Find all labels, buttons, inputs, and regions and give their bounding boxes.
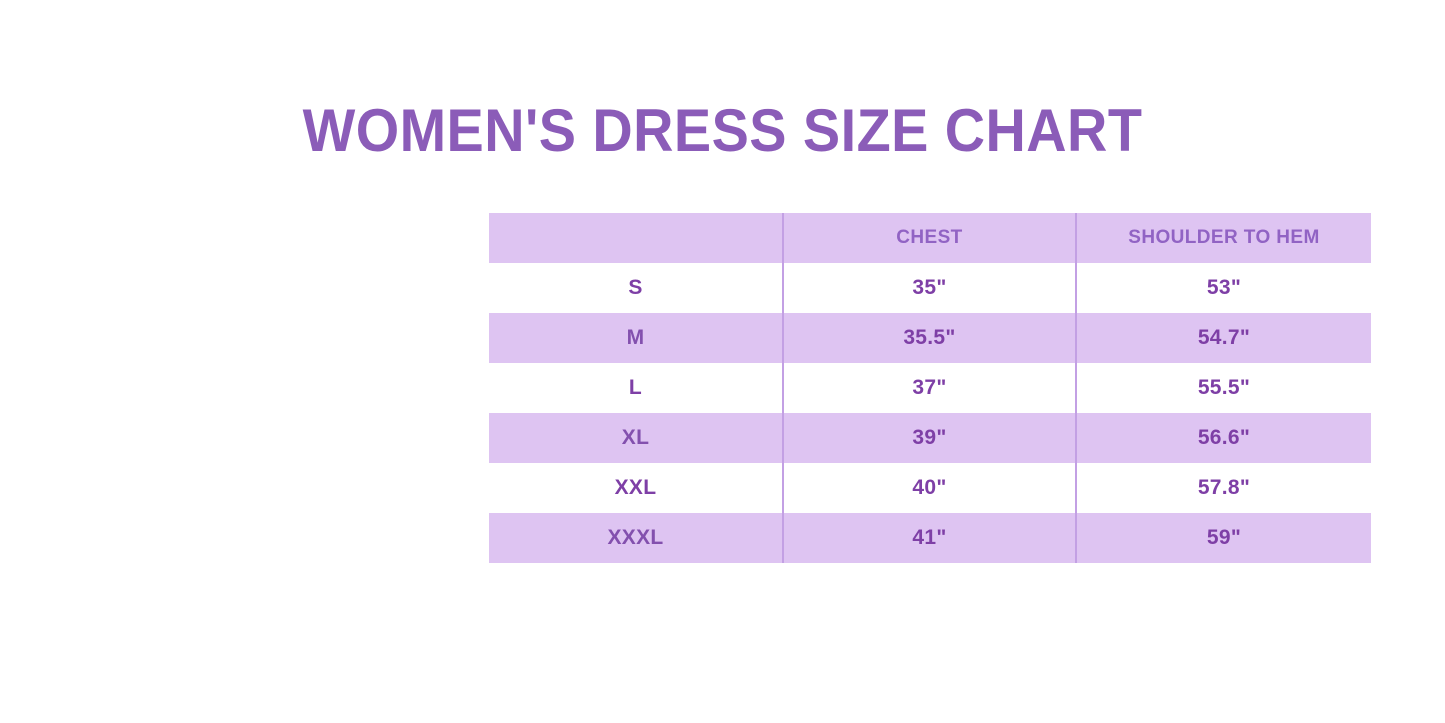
table-row: XL 39" 56.6" — [489, 413, 1371, 463]
table-header-row: CHEST SHOULDER TO HEM — [489, 213, 1371, 263]
cell-size: XXXL — [489, 513, 783, 563]
cell-shoulder-to-hem: 59" — [1076, 513, 1371, 563]
cell-shoulder-to-hem: 56.6" — [1076, 413, 1371, 463]
cell-size: L — [489, 363, 783, 413]
column-header-shoulder-to-hem: SHOULDER TO HEM — [1076, 213, 1371, 263]
cell-shoulder-to-hem: 53" — [1076, 263, 1371, 313]
size-chart-page: WOMEN'S DRESS SIZE CHART CHEST SHOULDER … — [0, 0, 1445, 723]
cell-shoulder-to-hem: 54.7" — [1076, 313, 1371, 363]
cell-chest: 40" — [783, 463, 1076, 513]
table-row: L 37" 55.5" — [489, 363, 1371, 413]
cell-chest: 37" — [783, 363, 1076, 413]
cell-size: XL — [489, 413, 783, 463]
page-title: WOMEN'S DRESS SIZE CHART — [51, 95, 1395, 167]
cell-size: M — [489, 313, 783, 363]
column-header-chest: CHEST — [783, 213, 1076, 263]
table-header: CHEST SHOULDER TO HEM — [489, 213, 1371, 263]
cell-size: S — [489, 263, 783, 313]
cell-chest: 41" — [783, 513, 1076, 563]
cell-shoulder-to-hem: 55.5" — [1076, 363, 1371, 413]
table-row: XXL 40" 57.8" — [489, 463, 1371, 513]
size-chart-table-container: CHEST SHOULDER TO HEM S 35" 53" M 35.5" … — [489, 213, 1371, 566]
table-body: S 35" 53" M 35.5" 54.7" L 37" 55.5" XL 3… — [489, 263, 1371, 563]
cell-chest: 35" — [783, 263, 1076, 313]
cell-chest: 35.5" — [783, 313, 1076, 363]
cell-size: XXL — [489, 463, 783, 513]
size-chart-table: CHEST SHOULDER TO HEM S 35" 53" M 35.5" … — [489, 213, 1371, 563]
table-row: M 35.5" 54.7" — [489, 313, 1371, 363]
cell-shoulder-to-hem: 57.8" — [1076, 463, 1371, 513]
cell-chest: 39" — [783, 413, 1076, 463]
table-row: S 35" 53" — [489, 263, 1371, 313]
table-row: XXXL 41" 59" — [489, 513, 1371, 563]
column-header-size — [489, 213, 783, 263]
